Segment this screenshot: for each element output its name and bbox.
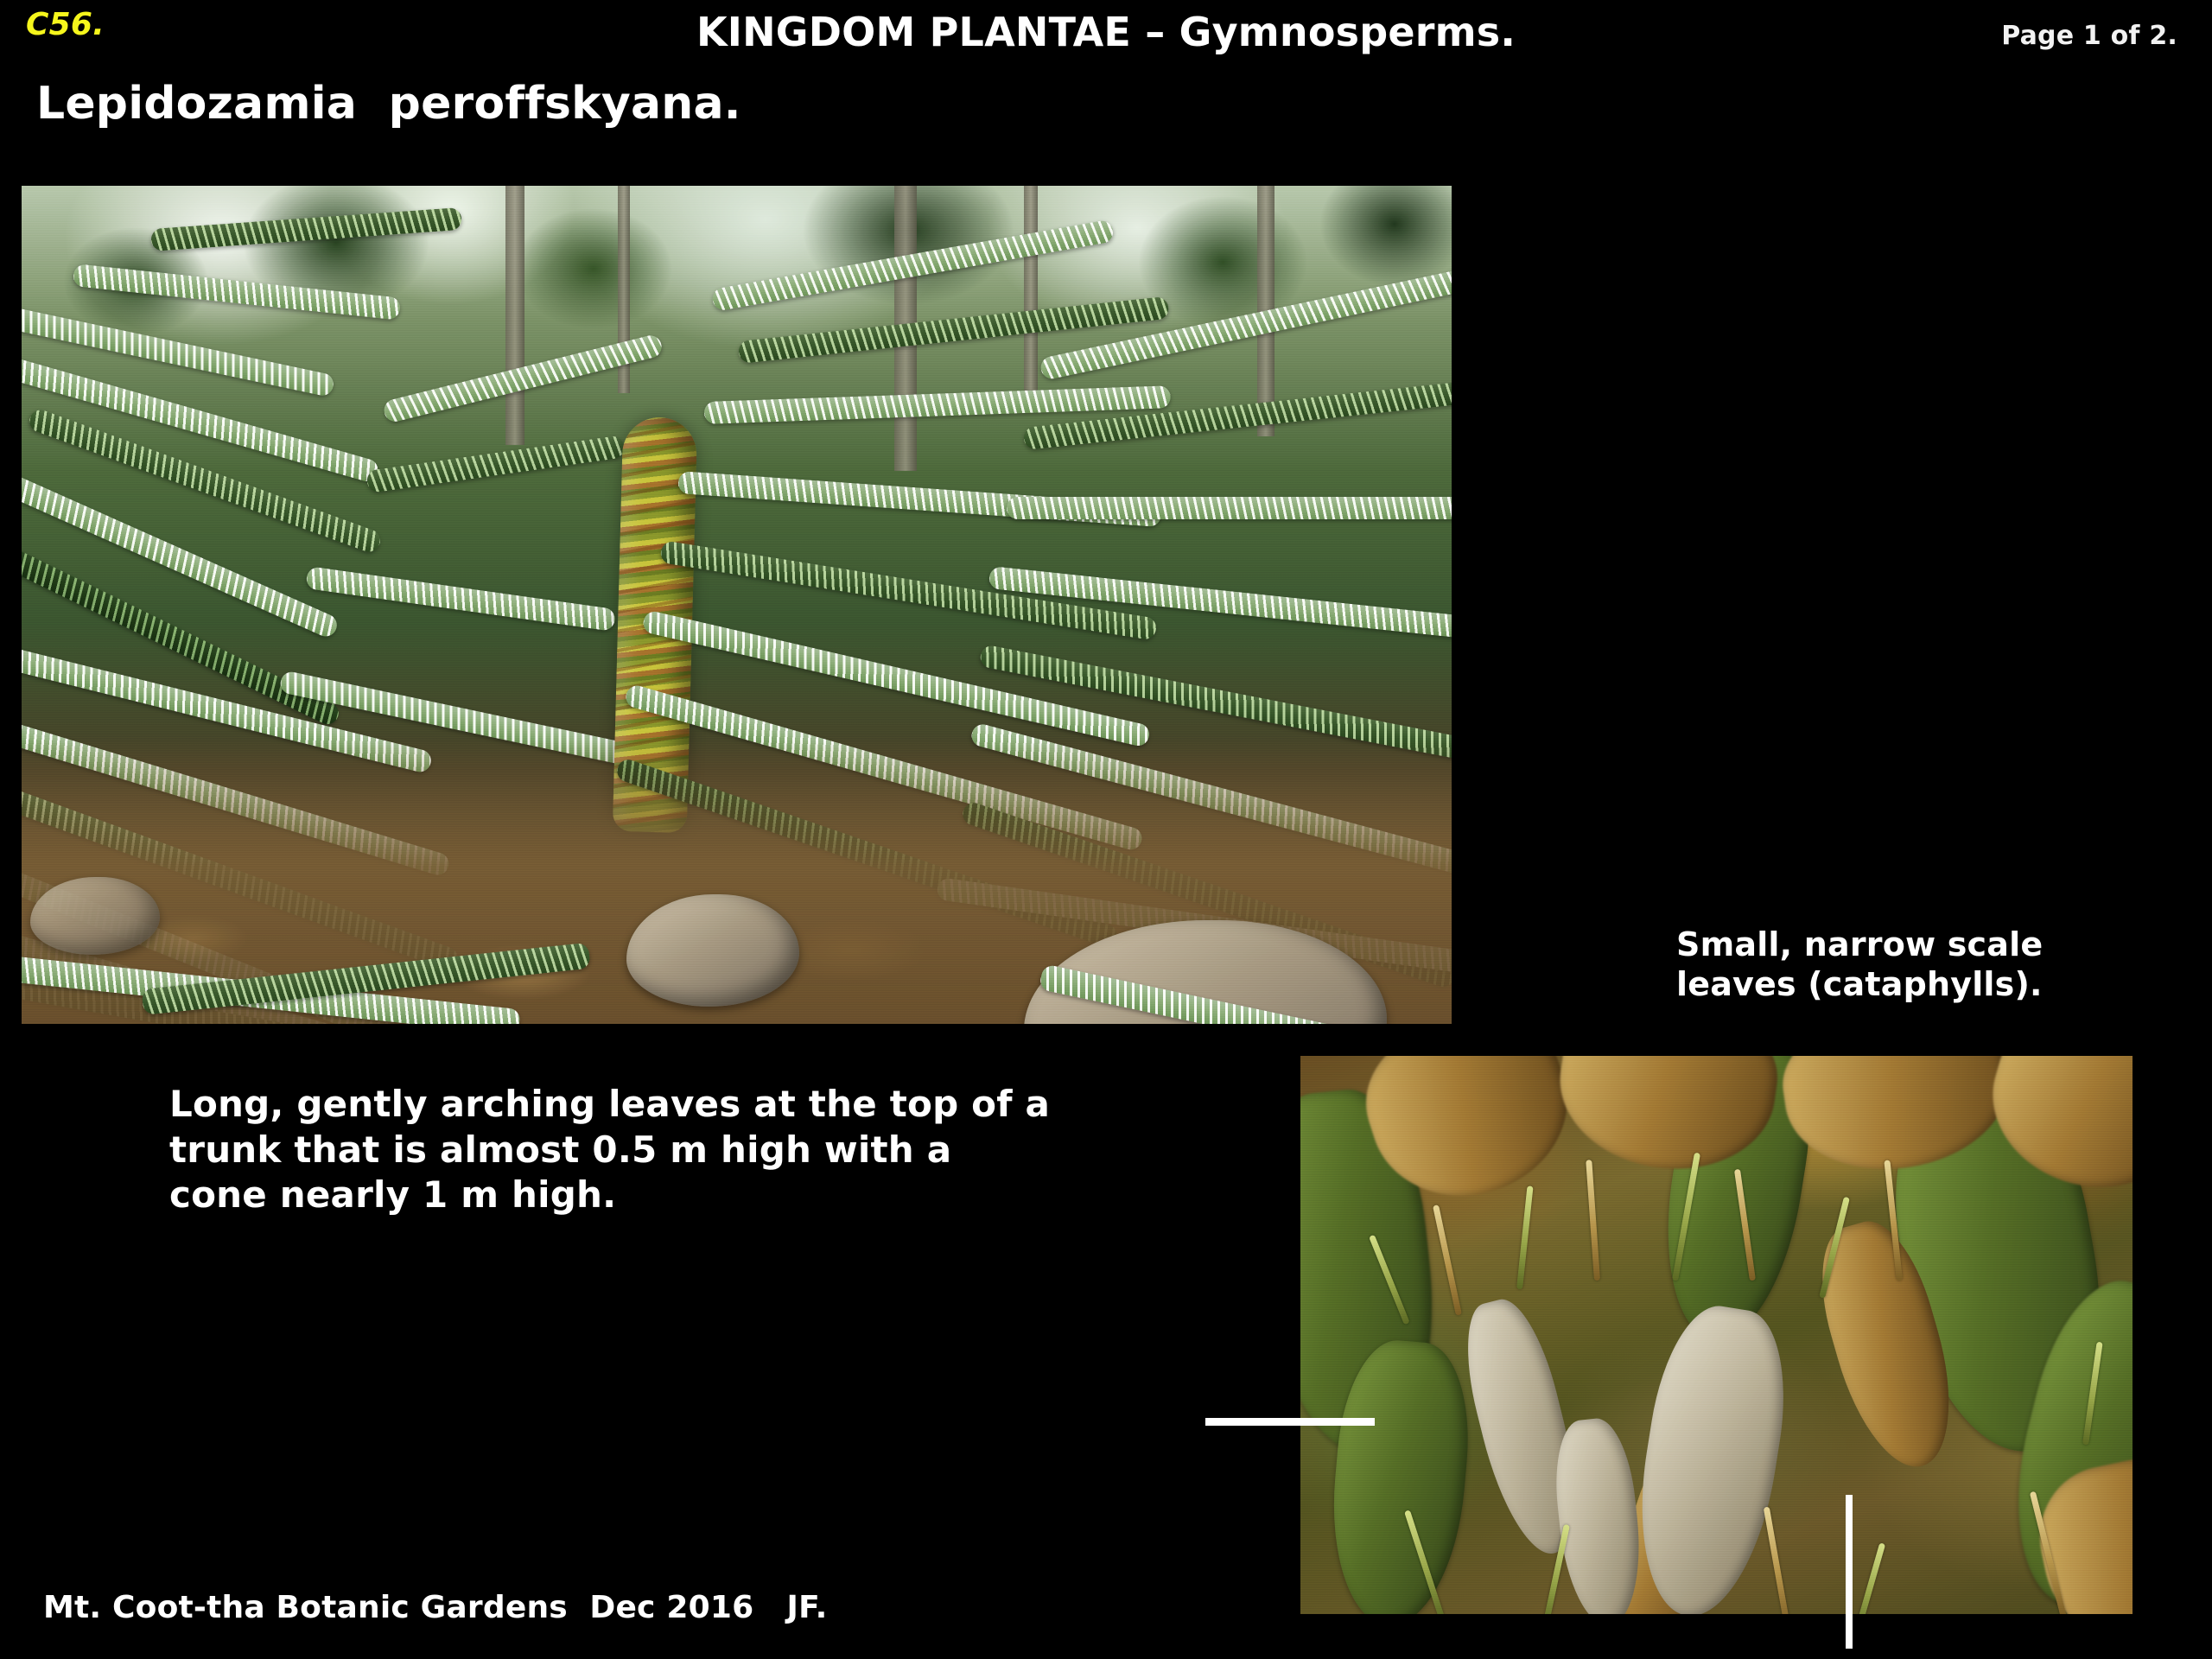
leader-line-horizontal xyxy=(1205,1418,1375,1426)
footer-credit: Mt. Coot-tha Botanic Gardens Dec 2016 JF… xyxy=(43,1590,828,1625)
slide-root: C56. KINGDOM PLANTAE – Gymnosperms. Page… xyxy=(0,0,2212,1659)
cycad-frond xyxy=(1007,497,1452,519)
background-tree-trunk xyxy=(505,186,524,445)
page-title: KINGDOM PLANTAE – Gymnosperms. xyxy=(0,9,2212,55)
foreground-rock xyxy=(30,877,160,955)
caption-cataphylls: Small, narrow scale leaves (cataphylls). xyxy=(1676,925,2143,1005)
photo-cataphylls xyxy=(1300,1056,2133,1614)
photo-habit xyxy=(22,186,1452,1024)
leader-line-vertical xyxy=(1846,1495,1853,1649)
species-name: Lepidozamia peroffskyana. xyxy=(36,78,741,130)
background-tree-trunk xyxy=(1024,186,1038,410)
page-indicator: Page 1 of 2. xyxy=(2001,21,2177,51)
caption-habit: Long, gently arching leaves at the top o… xyxy=(169,1082,1137,1218)
